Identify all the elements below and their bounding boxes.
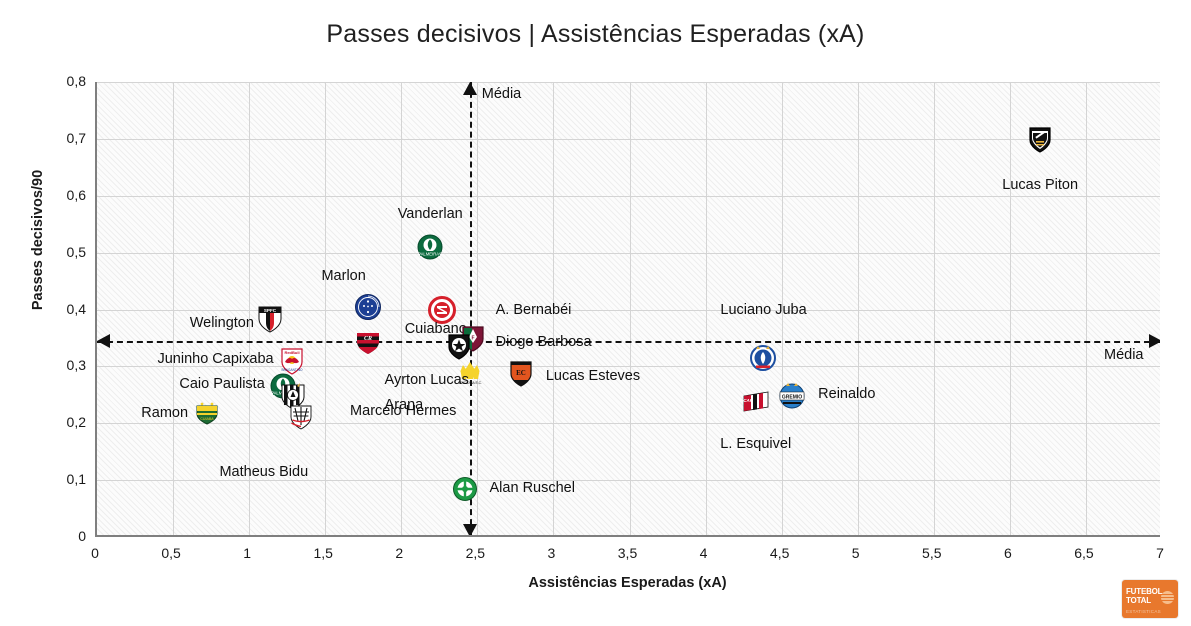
x-tick-label: 1	[222, 545, 272, 561]
data-point-crest[interactable]: GREMIO	[777, 381, 807, 411]
futebol-total-logo: FUTEBOLTOTAL ESTATISTICAS	[1122, 580, 1178, 618]
gridline-vertical	[706, 82, 707, 535]
gridline-horizontal	[97, 253, 1160, 254]
data-point-label: Luciano Juba	[720, 302, 806, 318]
gridline-vertical	[325, 82, 326, 535]
data-point-label: Vanderlan	[398, 206, 463, 222]
data-point-crest[interactable]: CUIABA	[192, 397, 222, 427]
data-point-label: Lucas Esteves	[546, 368, 640, 384]
scatter-chart: Passes decisivos | Assistências Esperada…	[0, 0, 1191, 626]
data-point-label: A. Bernabéi	[496, 302, 572, 318]
svg-text:RedBull: RedBull	[284, 350, 299, 355]
svg-text:CUIABA: CUIABA	[200, 417, 214, 421]
gridline-vertical	[173, 82, 174, 535]
gridline-vertical	[858, 82, 859, 535]
gridline-horizontal	[97, 423, 1160, 424]
x-tick-label: 2	[374, 545, 424, 561]
mean-arrow-down-icon	[463, 524, 477, 537]
gridline-vertical	[477, 82, 478, 535]
ball-icon	[1161, 591, 1174, 604]
data-point-label: Ramon	[141, 405, 188, 421]
data-point-label: Reinaldo	[818, 386, 875, 402]
mean-arrow-right-icon	[1149, 334, 1160, 348]
y-tick-label: 0,7	[34, 130, 86, 146]
y-tick-label: 0,1	[34, 471, 86, 487]
gridline-horizontal	[97, 139, 1160, 140]
y-tick-label: 0,4	[34, 301, 86, 317]
gridline-vertical	[401, 82, 402, 535]
mean-line-vertical	[470, 82, 472, 535]
data-point-crest[interactable]	[450, 474, 480, 504]
data-point-crest[interactable]	[444, 331, 474, 361]
mean-line-horizontal	[97, 341, 1160, 343]
data-point-label: Juninho Capixaba	[157, 351, 273, 367]
x-tick-label: 6,5	[1059, 545, 1109, 561]
x-tick-label: 4	[679, 545, 729, 561]
gridline-vertical	[1086, 82, 1087, 535]
x-axis-title: Assistências Esperadas (xA)	[95, 575, 1160, 591]
data-point-label: Welington	[190, 315, 254, 331]
gridline-horizontal	[97, 196, 1160, 197]
x-tick-label: 5	[831, 545, 881, 561]
brand-tagline: ESTATISTICAS	[1126, 609, 1161, 614]
mean-label-right: Média	[1104, 347, 1144, 363]
gridline-horizontal	[97, 82, 1160, 83]
data-point-crest[interactable]	[1025, 124, 1055, 154]
data-point-label: Caio Paulista	[179, 376, 264, 392]
x-tick-label: 2,5	[450, 545, 500, 561]
y-tick-label: 0,2	[34, 414, 86, 430]
y-tick-label: 0,6	[34, 187, 86, 203]
data-point-label: Alan Ruschel	[490, 480, 575, 496]
svg-text:CR: CR	[364, 336, 372, 342]
data-point-crest[interactable]: PALMEIRAS	[415, 232, 445, 262]
data-point-crest[interactable]: CAP	[741, 388, 771, 418]
y-tick-label: 0,8	[34, 73, 86, 89]
data-point-label: L. Esquivel	[720, 436, 791, 452]
mean-arrow-left-icon	[97, 334, 110, 348]
svg-text:GREMIO: GREMIO	[782, 394, 802, 400]
data-point-crest[interactable]: CR	[353, 326, 383, 356]
x-tick-label: 0	[70, 545, 120, 561]
mean-label-top: Média	[482, 86, 522, 102]
x-tick-label: 0,5	[146, 545, 196, 561]
data-point-label: Diogo Barbosa	[496, 334, 592, 350]
x-tick-label: 3,5	[603, 545, 653, 561]
x-tick-label: 1,5	[298, 545, 348, 561]
svg-text:PALMEIRAS: PALMEIRAS	[418, 251, 442, 256]
y-tick-label: 0,5	[34, 244, 86, 260]
x-tick-label: 5,5	[907, 545, 957, 561]
svg-text:SPFC: SPFC	[264, 308, 277, 313]
svg-text:EC: EC	[517, 369, 527, 377]
svg-text:CAP: CAP	[743, 398, 752, 403]
x-tick-label: 6	[983, 545, 1033, 561]
x-tick-label: 4,5	[755, 545, 805, 561]
data-point-label: Lucas Piton	[1002, 177, 1078, 193]
chart-title: Passes decisivos | Assistências Esperada…	[0, 20, 1191, 49]
data-point-label: Matheus Bidu	[219, 464, 308, 480]
mean-arrow-up-icon	[463, 82, 477, 95]
data-point-crest[interactable]	[353, 292, 383, 322]
gridline-vertical	[630, 82, 631, 535]
data-point-crest[interactable]	[286, 401, 316, 431]
y-axis-title: Passes decisivos/90	[30, 125, 46, 355]
data-point-crest[interactable]	[427, 295, 457, 325]
data-point-crest[interactable]	[748, 343, 778, 373]
data-point-crest[interactable]: EC	[506, 358, 536, 388]
data-point-label: Marlon	[321, 268, 365, 284]
plot-area: MédiaMédiaLucas PitonPALMEIRASVanderlanM…	[95, 82, 1160, 537]
x-tick-label: 3	[526, 545, 576, 561]
data-point-label: Ayrton Lucas	[385, 372, 469, 388]
x-tick-label: 7	[1135, 545, 1185, 561]
y-tick-label: 0	[34, 528, 86, 544]
data-point-label: Marcelo Hermes	[350, 403, 456, 419]
brand-line2: TOTAL	[1126, 596, 1151, 605]
gridline-vertical	[1010, 82, 1011, 535]
data-point-crest[interactable]: SPFC	[255, 304, 285, 334]
y-tick-label: 0,3	[34, 357, 86, 373]
gridline-vertical	[934, 82, 935, 535]
